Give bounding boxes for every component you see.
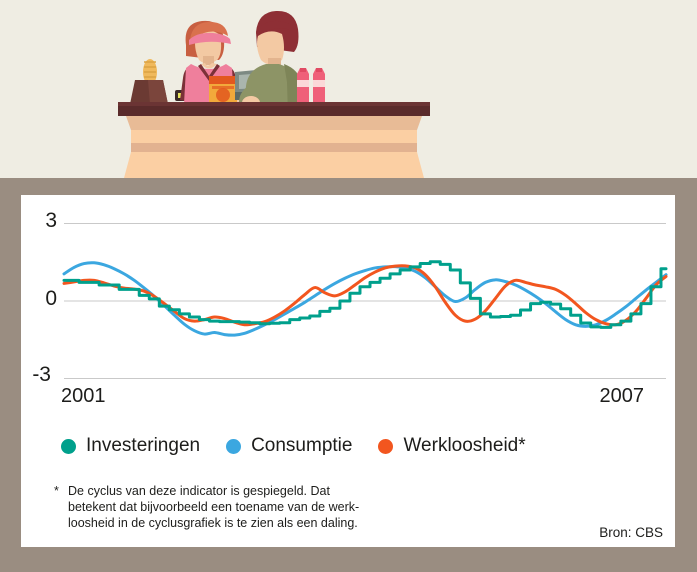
checkout-counter — [118, 102, 430, 178]
legend-item-investeringen[interactable]: Investeringen — [61, 435, 200, 457]
chart-footnote: * De cyclus van deze indicator is gespie… — [54, 483, 474, 531]
chart-legend: Investeringen Consumptie Werkloosheid* — [61, 435, 552, 457]
footnote-line-3: loosheid in de cyclusgrafiek is te zien … — [68, 515, 474, 531]
legend-label: Consumptie — [251, 435, 352, 457]
chart-card: 3 0 -3 2001 2007 Investeringen Consumpti… — [21, 195, 675, 547]
legend-dot-icon — [226, 439, 241, 454]
checkout-scene-svg — [0, 0, 697, 178]
y-axis-label-minus3: -3 — [21, 363, 51, 387]
chart-plot-area: 3 0 -3 — [21, 195, 675, 395]
page-root: 3 0 -3 2001 2007 Investeringen Consumpti… — [0, 0, 697, 572]
header-illustration — [0, 0, 697, 178]
legend-label: Werkloosheid* — [403, 435, 525, 457]
chart-series-layer — [64, 262, 666, 335]
legend-item-werkloosheid[interactable]: Werkloosheid* — [378, 435, 525, 457]
y-axis-label-3: 3 — [27, 209, 57, 233]
legend-label: Investeringen — [86, 435, 200, 457]
source-label: Bron: CBS — [599, 525, 663, 540]
business-cycle-line-chart — [21, 195, 675, 395]
footnote-line-1: De cyclus van deze indicator is gespiege… — [68, 483, 474, 499]
legend-dot-icon — [61, 439, 76, 454]
chart-gridlines — [64, 224, 666, 379]
x-axis-label-start: 2001 — [61, 385, 106, 408]
footnote-line-2: betekent dat bijvoorbeeld een toename va… — [68, 499, 474, 515]
y-axis-label-0: 0 — [27, 287, 57, 311]
x-axis-label-end: 2007 — [600, 385, 645, 408]
footnote-marker: * — [54, 483, 59, 499]
legend-dot-icon — [378, 439, 393, 454]
legend-item-consumptie[interactable]: Consumptie — [226, 435, 352, 457]
